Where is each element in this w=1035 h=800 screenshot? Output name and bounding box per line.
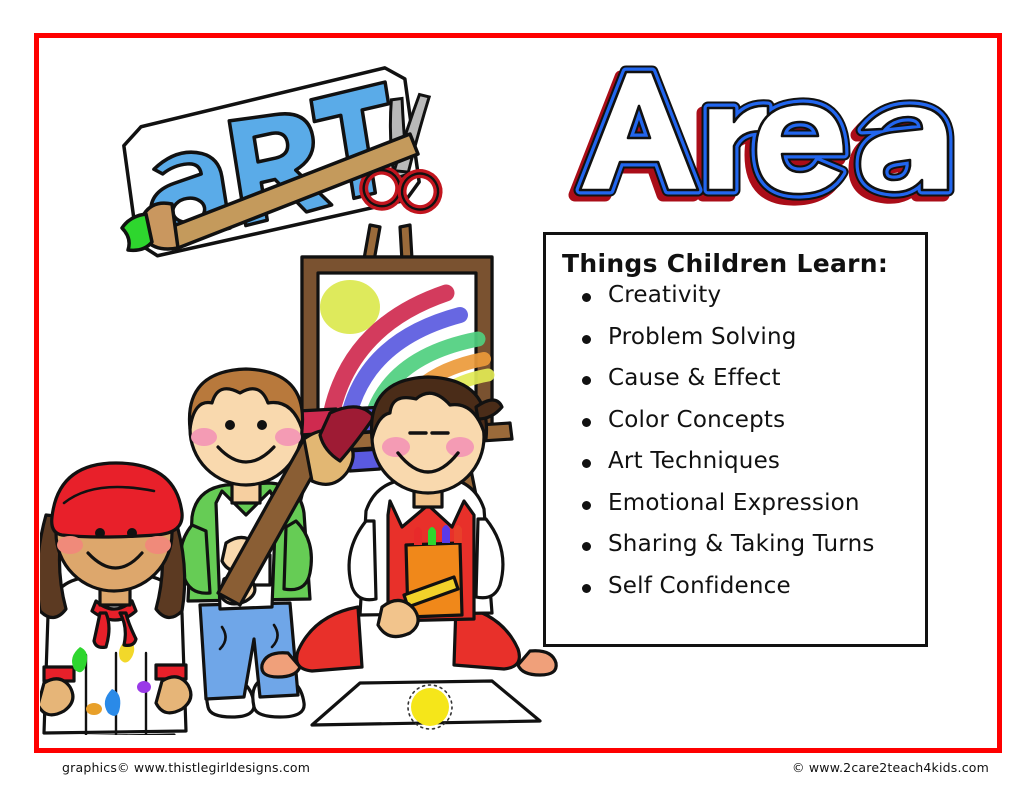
list-item: Cause & Effect xyxy=(582,367,915,390)
textbox-heading: Things Children Learn: xyxy=(562,249,915,278)
list-item: Self Confidence xyxy=(582,575,915,598)
bullet-icon xyxy=(582,418,591,427)
list-item-label: Color Concepts xyxy=(608,407,785,433)
bullet-icon xyxy=(582,376,591,385)
list-item-label: Creativity xyxy=(608,282,721,308)
list-item-label: Emotional Expression xyxy=(608,490,860,516)
bullet-icon xyxy=(582,542,591,551)
list-item-label: Art Techniques xyxy=(608,448,780,474)
bullet-icon xyxy=(582,501,591,510)
children-art-illustration xyxy=(40,215,570,735)
list-item: Problem Solving xyxy=(582,326,915,349)
list-item: Creativity xyxy=(582,284,915,307)
list-item-label: Problem Solving xyxy=(608,324,797,350)
footer-credit-right: © www.2care2teach4kids.com xyxy=(792,760,989,775)
list-item-label: Cause & Effect xyxy=(608,365,781,391)
art-area-poster: Things Children Learn: Creativity Proble… xyxy=(0,0,1035,800)
bullet-icon xyxy=(582,459,591,468)
bullet-icon xyxy=(582,584,591,593)
list-item-label: Self Confidence xyxy=(608,573,791,599)
things-children-learn-box: Things Children Learn: Creativity Proble… xyxy=(543,232,928,647)
page-title xyxy=(540,50,960,230)
list-item-label: Sharing & Taking Turns xyxy=(608,531,875,557)
list-item: Sharing & Taking Turns xyxy=(582,533,915,556)
list-item: Color Concepts xyxy=(582,409,915,432)
bullet-icon xyxy=(582,293,591,302)
bullet-icon xyxy=(582,335,591,344)
footer-credit-left: graphics© www.thistlegirldesigns.com xyxy=(62,760,310,775)
learning-list: Creativity Problem Solving Cause & Effec… xyxy=(560,284,915,598)
list-item: Emotional Expression xyxy=(582,492,915,515)
list-item: Art Techniques xyxy=(582,450,915,473)
